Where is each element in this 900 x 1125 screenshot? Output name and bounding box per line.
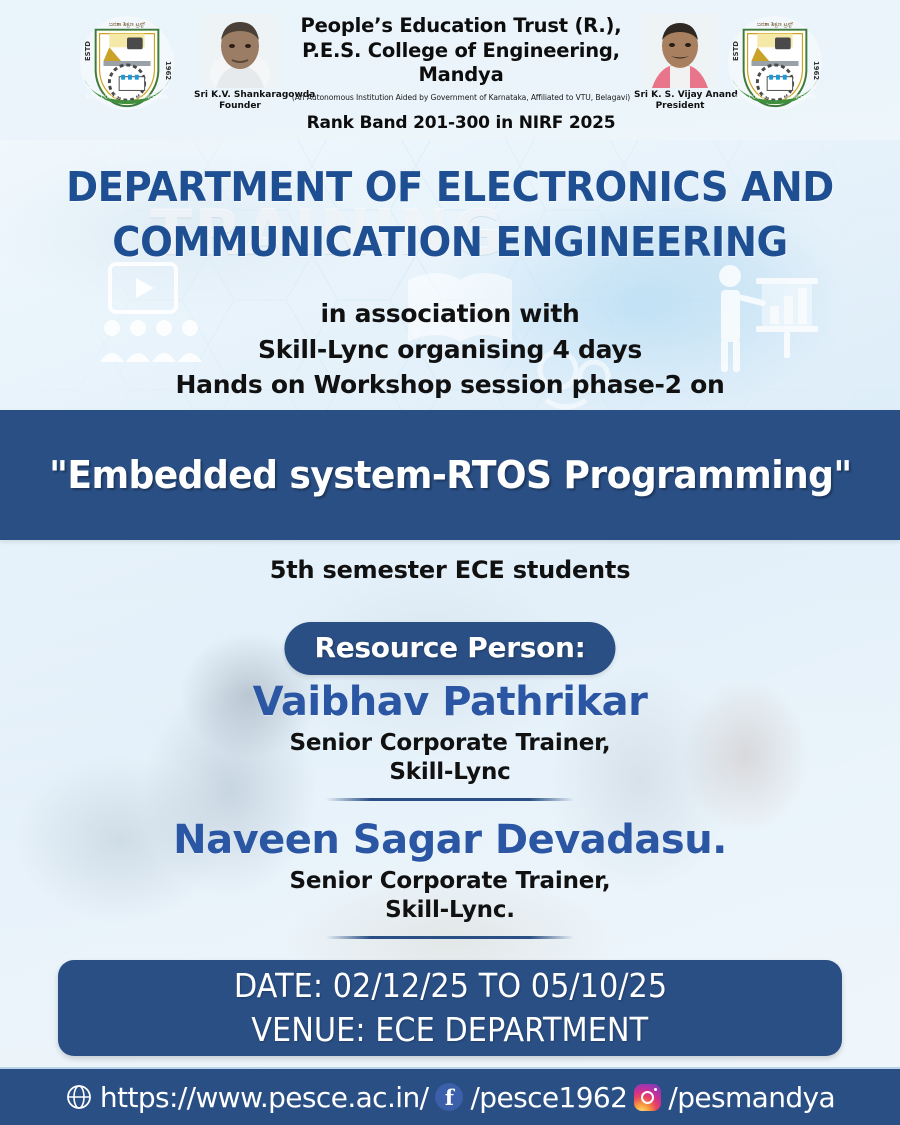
- speaker-divider-2: [326, 936, 574, 939]
- founder-role: Founder: [194, 101, 286, 112]
- poster-footer: https://www.pesce.ac.in/ f /pesce1962 /p…: [0, 1067, 900, 1125]
- facebook-icon[interactable]: f: [435, 1083, 463, 1111]
- event-date: DATE: 02/12/25 TO 05/10/25: [233, 964, 666, 1008]
- founder-photo: [202, 14, 278, 88]
- college-crest-icon-left: ಜನತಾ ಶಿಕ್ಷಣ ಟ್ರಸ್ಟ್ ESTD 1962 P.E.S. COL…: [78, 14, 176, 112]
- department-title: DEPARTMENT OF ELECTRONICS AND COMMUNICAT…: [27, 160, 873, 271]
- resource-person-label: Resource Person:: [284, 622, 615, 675]
- founder-name: Sri K.V. Shankaragowda: [194, 90, 286, 101]
- association-line3: Hands on Workshop session phase-2 on: [0, 367, 900, 403]
- speaker-org-2: Skill-Lync.: [0, 896, 900, 925]
- speaker-role-2: Senior Corporate Trainer,: [0, 867, 900, 896]
- speaker-divider-1: [326, 798, 574, 801]
- event-venue: VENUE: ECE DEPARTMENT: [252, 1008, 649, 1052]
- speaker-block-1: Vaibhav Pathrikar Senior Corporate Train…: [0, 680, 900, 801]
- president-role: President: [634, 101, 726, 112]
- association-line1: in association with: [0, 296, 900, 332]
- department-title-line2: COMMUNICATION ENGINEERING: [27, 215, 873, 270]
- instagram-handle[interactable]: /pesmandya: [668, 1081, 835, 1114]
- founder-portrait-block: Sri K.V. Shankaragowda Founder: [194, 14, 286, 112]
- poster-header: ಜನತಾ ಶಿಕ್ಷಣ ಟ್ರಸ್ಟ್ ESTD 1962 P.E.S. COL…: [0, 0, 900, 140]
- association-block: in association with Skill-Lync organisin…: [0, 296, 900, 403]
- svg-text:ಜನತಾ ಶಿಕ್ಷಣ ಟ್ರಸ್ಟ್: ಜನತಾ ಶಿಕ್ಷಣ ಟ್ರಸ್ಟ್: [109, 22, 145, 28]
- workshop-title: "Embedded system-RTOS Programming": [49, 453, 852, 497]
- poster-root: TRAINING: [0, 0, 900, 1125]
- nirf-rank-text: Rank Band 201-300 in NIRF 2025: [286, 113, 636, 133]
- date-venue-box: DATE: 02/12/25 TO 05/10/25 VENUE: ECE DE…: [58, 960, 842, 1056]
- speaker-block-2: Naveen Sagar Devadasu. Senior Corporate …: [0, 818, 900, 939]
- crest-year-text: 1962: [164, 61, 172, 80]
- college-crest-icon-right: ಜನತಾ ಶಿಕ್ಷಣ ಟ್ರಸ್ಟ್ ESTD 1962 P.E.S. COL…: [726, 14, 824, 112]
- svg-text:P.E.S. COLLEGE OF ENGINEERING: P.E.S. COLLEGE OF ENGINEERING: [734, 94, 815, 100]
- crest-estd-text: ESTD: [84, 41, 92, 61]
- speaker-name-1: Vaibhav Pathrikar: [0, 680, 900, 725]
- president-photo: [642, 14, 718, 88]
- svg-text:ಜನತಾ ಶಿಕ್ಷಣ ಟ್ರಸ್ಟ್: ಜನತಾ ಶಿಕ್ಷಣ ಟ್ರಸ್ಟ್: [757, 22, 793, 28]
- audience-text: 5th semester ECE students: [0, 556, 900, 584]
- department-title-line1: DEPARTMENT OF ELECTRONICS AND: [27, 160, 873, 215]
- trust-name-line1: People’s Education Trust (R.),: [286, 14, 636, 39]
- workshop-title-banner: "Embedded system-RTOS Programming": [0, 410, 900, 540]
- website-url[interactable]: https://www.pesce.ac.in/: [100, 1081, 429, 1114]
- svg-text:P.E.S. COLLEGE OF ENGINEERING: P.E.S. COLLEGE OF ENGINEERING: [86, 94, 167, 100]
- college-name-line2: P.E.S. College of Engineering, Mandya: [286, 39, 636, 88]
- svg-text:ESTD: ESTD: [732, 41, 740, 61]
- globe-icon: [65, 1083, 93, 1111]
- instagram-icon[interactable]: [634, 1084, 661, 1111]
- organisation-block: People’s Education Trust (R.), P.E.S. Co…: [286, 14, 636, 133]
- svg-text:1962: 1962: [812, 61, 820, 80]
- president-portrait-block: Sri K. S. Vijay Anand President: [634, 14, 726, 112]
- speaker-name-2: Naveen Sagar Devadasu.: [0, 818, 900, 863]
- speaker-org-1: Skill-Lync: [0, 758, 900, 787]
- president-name: Sri K. S. Vijay Anand: [634, 90, 726, 101]
- facebook-handle[interactable]: /pesce1962: [470, 1081, 627, 1114]
- speaker-role-1: Senior Corporate Trainer,: [0, 729, 900, 758]
- association-line2: Skill-Lync organising 4 days: [0, 332, 900, 368]
- affiliation-text: (An Autonomous Institution Aided by Gove…: [286, 93, 636, 102]
